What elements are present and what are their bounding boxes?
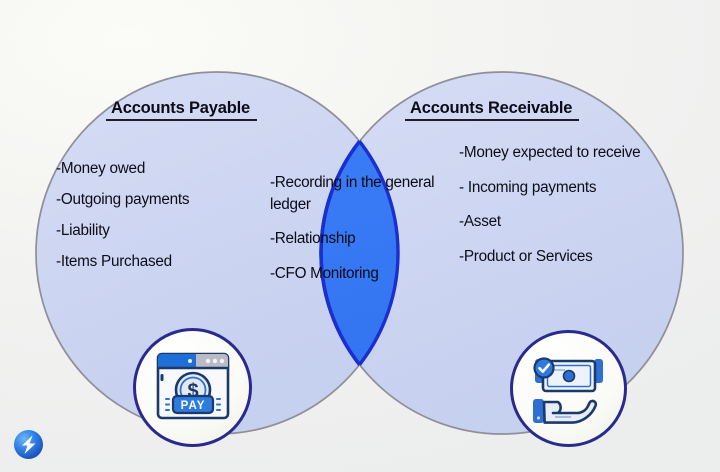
verified-badge-circle: [534, 358, 553, 377]
lightning-bolt-logo: [12, 428, 45, 461]
titlebar-dot: [219, 358, 223, 362]
list-item: -Items Purchased: [56, 253, 189, 271]
venn-diagram-canvas: Accounts Payable -Money owed -Outgoing p…: [0, 0, 720, 472]
titlebar-dot: [205, 358, 209, 362]
page-title-accounts-payable: Accounts Payable: [111, 99, 250, 121]
cuff-button: [536, 416, 539, 419]
open-hand-shape: [544, 400, 596, 422]
list-item: -Product or Services: [459, 246, 659, 268]
list-item: -Asset: [459, 211, 659, 233]
cash-in-hand-icon: [510, 330, 627, 447]
list-item: -Relationship: [270, 228, 456, 250]
list-accounts-payable: -Money owed -Outgoing payments -Liabilit…: [56, 160, 189, 284]
list-item: -CFO Monitoring: [270, 263, 456, 285]
sidebar-tick: [160, 374, 163, 381]
online-payment-icon: $ PAY: [133, 328, 252, 447]
cash-in-hand-glyph: [525, 347, 613, 431]
titlebar-dot: [212, 358, 216, 362]
titlebar-dot: [188, 359, 192, 363]
list-item: - Incoming payments: [459, 177, 659, 199]
list-item: -Money owed: [56, 160, 189, 178]
page-title-accounts-receivable: Accounts Receivable: [410, 99, 572, 121]
list-shared-overlap: -Recording in the general ledger -Relati…: [270, 172, 456, 297]
list-accounts-receivable: -Money expected to receive - Incoming pa…: [459, 142, 659, 281]
list-item: -Liability: [56, 222, 189, 240]
list-item: -Recording in the general ledger: [270, 172, 456, 216]
lightning-bolt-glyph: [12, 428, 45, 461]
list-item: -Money expected to receive: [459, 142, 659, 164]
list-item: -Outgoing payments: [56, 191, 189, 209]
banknote-center-seal: [563, 370, 574, 381]
pay-button-label: PAY: [180, 400, 205, 412]
online-payment-glyph: $ PAY: [149, 346, 237, 430]
